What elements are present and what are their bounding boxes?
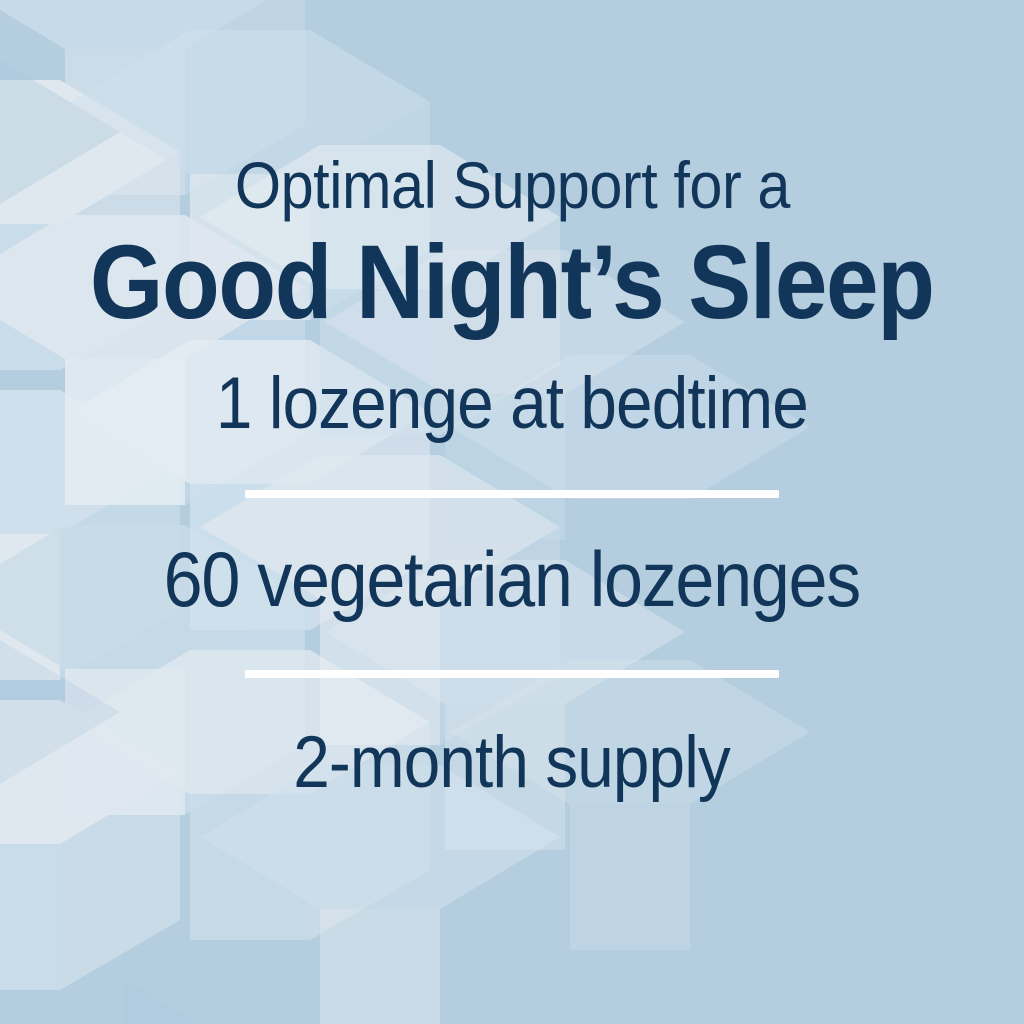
divider-bottom: [245, 670, 779, 678]
page-title: Good Night’s Sleep: [90, 230, 934, 335]
lozenge-count-text: 60 vegetarian lozenges: [164, 540, 860, 618]
claims-text-stack: Optimal Support for a Good Night’s Sleep…: [0, 0, 1024, 1024]
divider-top: [245, 490, 779, 498]
product-claims-graphic: Optimal Support for a Good Night’s Sleep…: [0, 0, 1024, 1024]
dosage-text: 1 lozenge at bedtime: [216, 367, 808, 440]
eyebrow-text: Optimal Support for a: [234, 152, 789, 218]
supply-duration-text: 2-month supply: [294, 726, 731, 799]
